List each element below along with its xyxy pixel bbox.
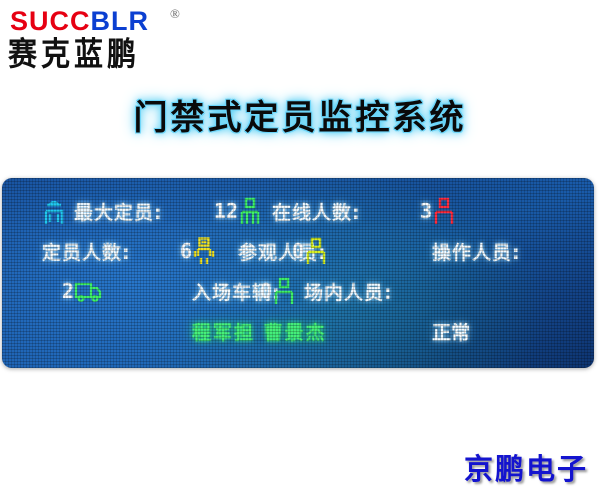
led-value-visitor-count: 0 xyxy=(272,239,304,263)
led-value-onsite-names: 程军担 曹景杰 xyxy=(192,318,432,345)
led-value-operator-count: 2 xyxy=(42,279,74,303)
truck-icon xyxy=(74,278,192,304)
person-hardhat-icon xyxy=(42,196,74,226)
led-label-vehicle-count: 入场车辆: xyxy=(192,278,238,305)
company-mark: 京鹏电子 xyxy=(464,446,588,488)
status-badge: 正常 xyxy=(432,318,470,345)
led-value-max-capacity: 12 xyxy=(192,199,238,223)
led-value-registered-count: 6 xyxy=(74,239,192,263)
brand-logo-latin-blue: BLR xyxy=(91,6,150,36)
brand-logo-chinese: 赛克蓝鹏 xyxy=(8,37,140,71)
led-display-content: 最大定员: 12 在线人数: 3 xyxy=(42,191,560,351)
person-icon-registered xyxy=(432,196,470,226)
person-visitor-icon xyxy=(192,236,238,266)
person-icon-operator xyxy=(304,236,432,266)
led-display-panel: 最大定员: 12 在线人数: 3 xyxy=(2,178,594,368)
page-title: 门禁式定员监控系统 xyxy=(0,90,600,139)
led-label-visitor-count: 参观人员: xyxy=(238,238,272,265)
led-label-onsite-personnel: 场内人员: xyxy=(304,278,432,305)
led-label-online-count: 在线人数: xyxy=(272,198,304,225)
led-readout-grid: 最大定员: 12 在线人数: 3 xyxy=(42,191,560,351)
led-label-max-capacity: 最大定员: xyxy=(74,198,192,225)
person-icon-online xyxy=(238,196,272,226)
led-label-operator-count: 操作人员: xyxy=(432,238,470,265)
brand-logo: SUCCBLR ® 赛克蓝鹏 xyxy=(8,6,218,76)
brand-logo-latin-red: SUCC xyxy=(10,6,91,36)
person-icon-onsite xyxy=(272,276,304,306)
brand-logo-latin: SUCCBLR xyxy=(10,8,149,35)
led-value-vehicle-count: 0 xyxy=(238,279,272,303)
led-value-online-count: 3 xyxy=(304,199,432,223)
led-label-registered-count: 定员人数: xyxy=(42,238,74,265)
registered-trademark-icon: ® xyxy=(170,6,180,22)
